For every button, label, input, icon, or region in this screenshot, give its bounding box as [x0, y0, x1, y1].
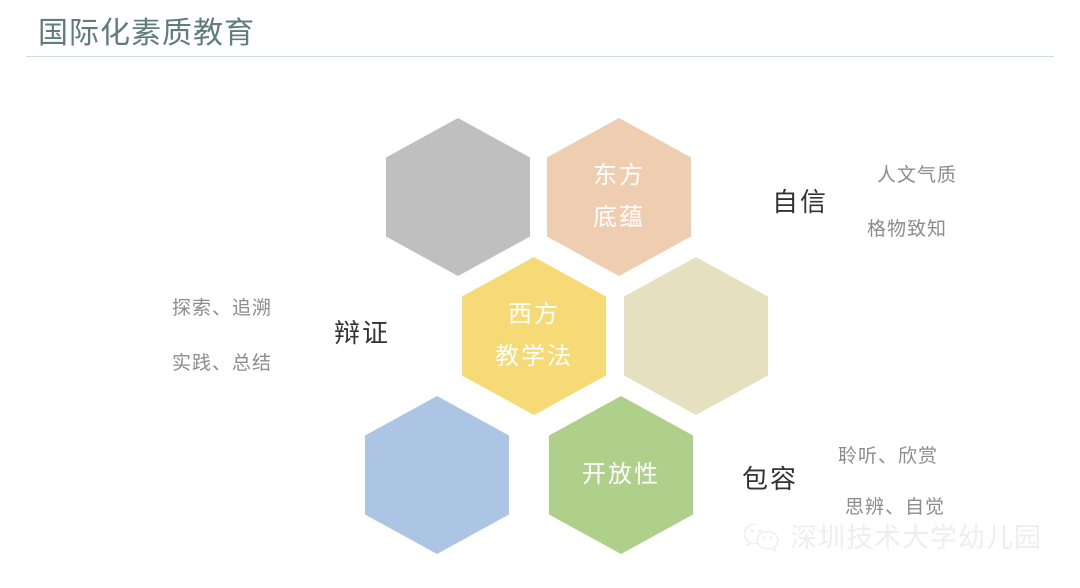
- hexagon-openness[interactable]: 开放性: [549, 396, 693, 554]
- page-title: 国际化素质教育: [38, 14, 255, 54]
- hexagon-eastern-foundation[interactable]: 东方 底蕴: [547, 118, 691, 276]
- hexagon-beige[interactable]: [624, 257, 768, 415]
- title-block: 国际化素质教育: [0, 0, 1080, 60]
- hexagon-peach-label-line2: 底蕴: [593, 197, 645, 239]
- subtext-dialectic-line1: 探索、追溯: [172, 296, 272, 322]
- slide-canvas: 国际化素质教育 东方 底蕴 西方 教学法 开放性 自信 人文气质 格物致知 辩证…: [0, 0, 1080, 588]
- subtext-confidence-line2: 格物致知: [867, 217, 947, 243]
- watermark: 深圳技术大学幼儿园: [742, 521, 1042, 555]
- hexagon-green-label: 开放性: [582, 454, 660, 496]
- hexagon-gray[interactable]: [386, 118, 530, 276]
- subtext-dialectic-line2: 实践、总结: [172, 351, 272, 377]
- hexagon-blue[interactable]: [365, 396, 509, 554]
- hexagon-yellow-label-line1: 西方: [508, 294, 560, 336]
- subtext-confidence-line1: 人文气质: [877, 163, 957, 189]
- hexagon-yellow-label-line2: 教学法: [495, 336, 573, 378]
- keyword-confidence: 自信: [772, 186, 828, 218]
- keyword-dialectic: 辩证: [334, 317, 390, 349]
- hexagon-peach-label-line1: 东方: [593, 155, 645, 197]
- wechat-icon: [742, 521, 782, 555]
- watermark-text: 深圳技术大学幼儿园: [790, 521, 1042, 555]
- hexagon-western-pedagogy[interactable]: 西方 教学法: [462, 257, 606, 415]
- subtext-inclusiveness-line2: 思辨、自觉: [845, 495, 945, 521]
- keyword-inclusiveness: 包容: [742, 463, 798, 495]
- subtext-inclusiveness-line1: 聆听、欣赏: [838, 444, 938, 470]
- title-divider: [26, 56, 1054, 57]
